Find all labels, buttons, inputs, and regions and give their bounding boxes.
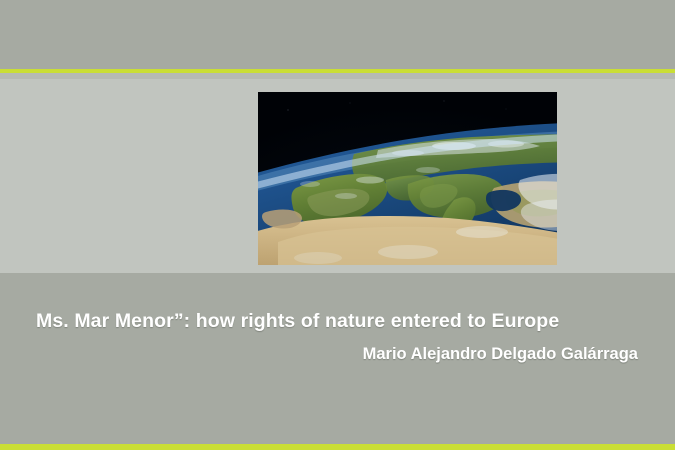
accent-rule-bottom bbox=[0, 444, 675, 450]
background-band-top bbox=[0, 0, 675, 69]
earth-from-space-europe-photo bbox=[258, 92, 557, 265]
slide-subtitle-author: Mario Alejandro Delgado Galárraga bbox=[36, 342, 638, 366]
slide-title: Ms. Mar Menor”: how rights of nature ent… bbox=[36, 308, 636, 334]
presentation-title-slide: Ms. Mar Menor”: how rights of nature ent… bbox=[0, 0, 675, 450]
